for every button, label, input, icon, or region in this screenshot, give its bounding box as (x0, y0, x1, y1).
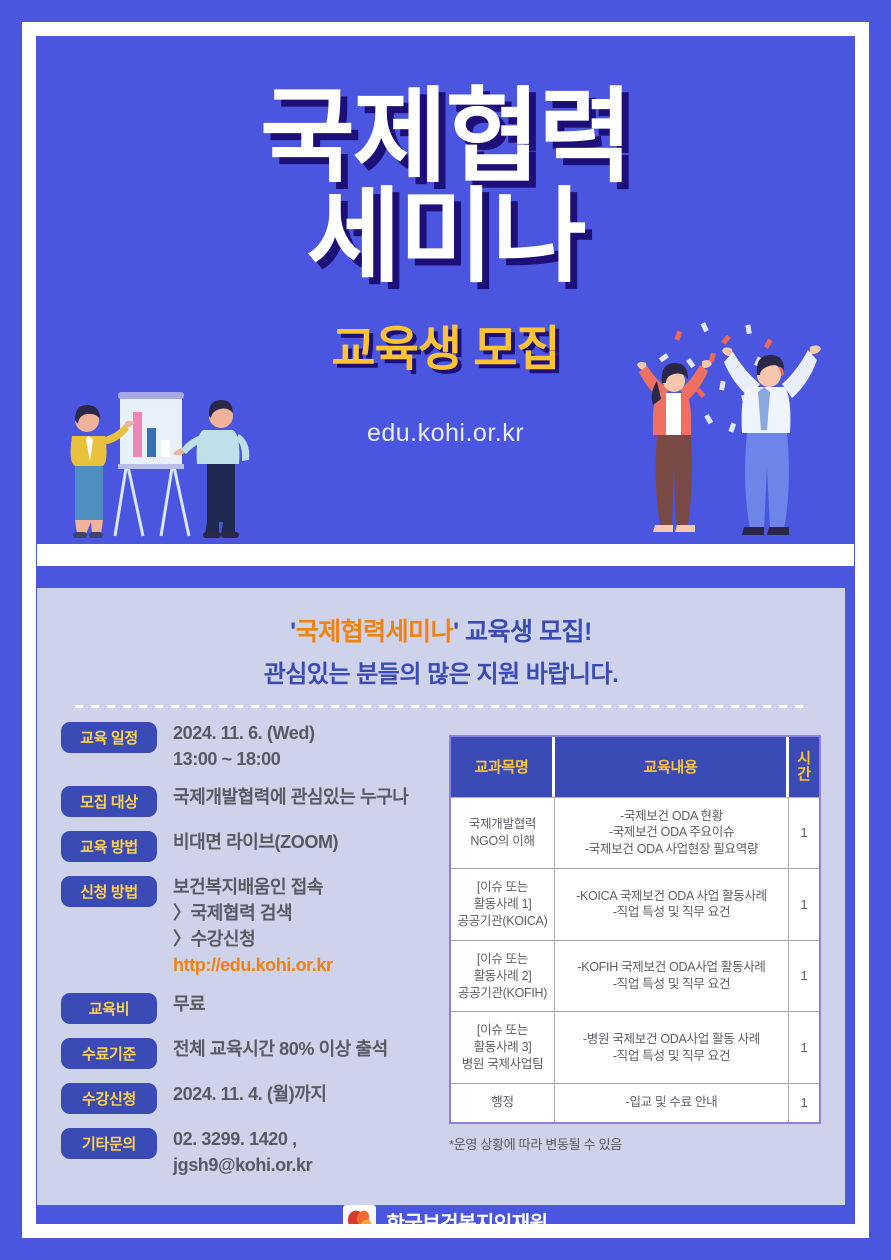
poster-root: 국제협력 세미나 교육생 모집 edu.kohi.or.kr '국제협력세미나'… (0, 0, 891, 1260)
hero-subtitle: 교육생 모집 (37, 309, 854, 379)
hero-title-line-1: 국제협력 (37, 87, 854, 187)
hero-title-line-2: 세미나 (37, 187, 854, 287)
hero-url[interactable]: edu.kohi.or.kr (37, 419, 854, 448)
hero-title-block: 국제협력 세미나 교육생 모집 edu.kohi.or.kr (37, 87, 854, 448)
